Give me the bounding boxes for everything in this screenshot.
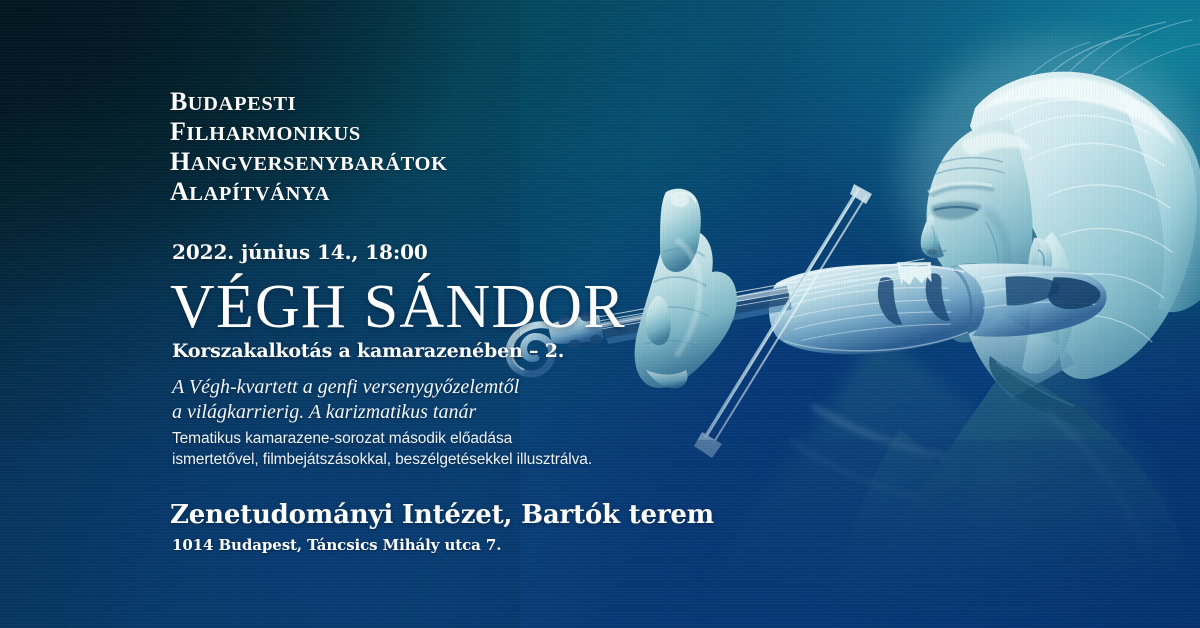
logo-line-2: FILHARMONIKUS (170, 118, 448, 148)
venue-name: Zenetudományi Intézet, Bartók terem (170, 500, 714, 530)
logo-line-4-initial: A (170, 177, 189, 206)
logo-line-3-initial: H (170, 147, 191, 176)
page-title: VÉGH SÁNDOR (170, 276, 626, 338)
lead-line-2: a világkarrierig. A karizmatikus tanár (172, 400, 519, 425)
event-description: Tematikus kamarazene-sorozat második elő… (172, 428, 592, 470)
logo-line-1-initial: B (170, 87, 188, 116)
foundation-logo: BUDAPESTI FILHARMONIKUS HANGVERSENYBARÁT… (170, 88, 448, 208)
event-lead-text: A Végh-kvartett a genfi versenygyőzelemt… (172, 375, 519, 425)
logo-line-3-rest: ANGVERSENYBARÁTOK (191, 153, 448, 175)
description-line-1: Tematikus kamarazene-sorozat második elő… (172, 428, 592, 449)
poster-text-block: BUDAPESTI FILHARMONIKUS HANGVERSENYBARÁT… (170, 0, 730, 628)
logo-line-1: BUDAPESTI (170, 88, 448, 118)
logo-line-4-rest: LAPÍTVÁNYA (189, 183, 330, 205)
logo-line-4: ALAPÍTVÁNYA (170, 178, 448, 208)
event-subtitle: Korszakalkotás a kamarazenében – 2. (172, 340, 564, 362)
logo-line-2-rest: ILHARMONIKUS (186, 123, 361, 145)
logo-line-2-initial: F (170, 117, 186, 146)
concert-poster: BUDAPESTI FILHARMONIKUS HANGVERSENYBARÁT… (0, 0, 1200, 628)
logo-line-3: HANGVERSENYBARÁTOK (170, 148, 448, 178)
description-line-2: ismertetővel, filmbejátszásokkal, beszél… (172, 449, 592, 470)
logo-line-1-rest: UDAPESTI (188, 93, 296, 115)
venue-address: 1014 Budapest, Táncsics Mihály utca 7. (172, 536, 501, 554)
lead-line-1: A Végh-kvartett a genfi versenygyőzelemt… (172, 375, 519, 400)
event-date: 2022. június 14., 18:00 (172, 240, 428, 264)
